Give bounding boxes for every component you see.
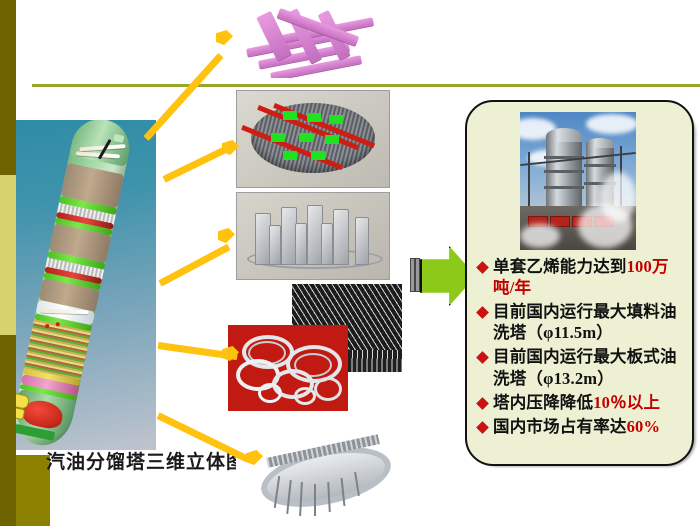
bullet-text-black: 单套乙烯能力达到 [493, 257, 627, 276]
bullet-text-black: 目前国内运行最大填料油洗塔（φ11.5m） [493, 302, 677, 342]
left-accent-bar-top [0, 0, 16, 175]
green-block-arrow [410, 246, 472, 302]
industrial-tower-photo[interactable] [520, 112, 636, 250]
list-item: 目前国内运行最大填料油洗塔（φ11.5m） [474, 301, 688, 343]
fractionation-tower-illustration [16, 120, 156, 450]
bullet-diamond-icon [476, 306, 489, 319]
list-item: 塔内压降降低10％以上 [474, 392, 688, 413]
bullet-diamond-icon [476, 421, 489, 434]
bullet-text-black: 塔内压降降低 [493, 393, 593, 412]
thumbnail-pink-beam-grid[interactable] [236, 4, 386, 78]
bullet-diamond-icon [476, 352, 489, 365]
left-accent-block-bottom [16, 455, 50, 526]
slide-canvas: 汽油分馏塔三维立体图 [0, 0, 700, 526]
list-item: 单套乙烯能力达到100万吨/年 [474, 256, 688, 298]
bullet-text-black: 国内市场占有率达 [493, 417, 627, 436]
bullet-text-red: 10％以上 [593, 393, 660, 412]
thumbnail-spiked-distributor-ring[interactable] [236, 420, 406, 520]
bullet-text-black: 目前国内运行最大板式油洗塔（φ13.2m） [493, 347, 677, 387]
thumbnail-ring-packing[interactable] [228, 325, 348, 411]
left-accent-bar-bottom [0, 335, 16, 526]
list-item: 目前国内运行最大板式油洗塔（φ13.2m） [474, 346, 688, 388]
bullet-text-red: 60% [627, 417, 661, 436]
thumbnail-vane-tray[interactable] [236, 192, 390, 280]
results-bullet-list: 单套乙烯能力达到100万吨/年 目前国内运行最大填料油洗塔（φ11.5m） 目前… [474, 256, 688, 440]
horizontal-rule [32, 84, 700, 87]
bullet-diamond-icon [476, 397, 489, 410]
list-item: 国内市场占有率达60% [474, 416, 688, 437]
left-accent-bar-middle [0, 175, 16, 335]
bullet-diamond-icon [476, 261, 489, 274]
thumbnail-packing-tray-disc[interactable] [236, 90, 390, 188]
